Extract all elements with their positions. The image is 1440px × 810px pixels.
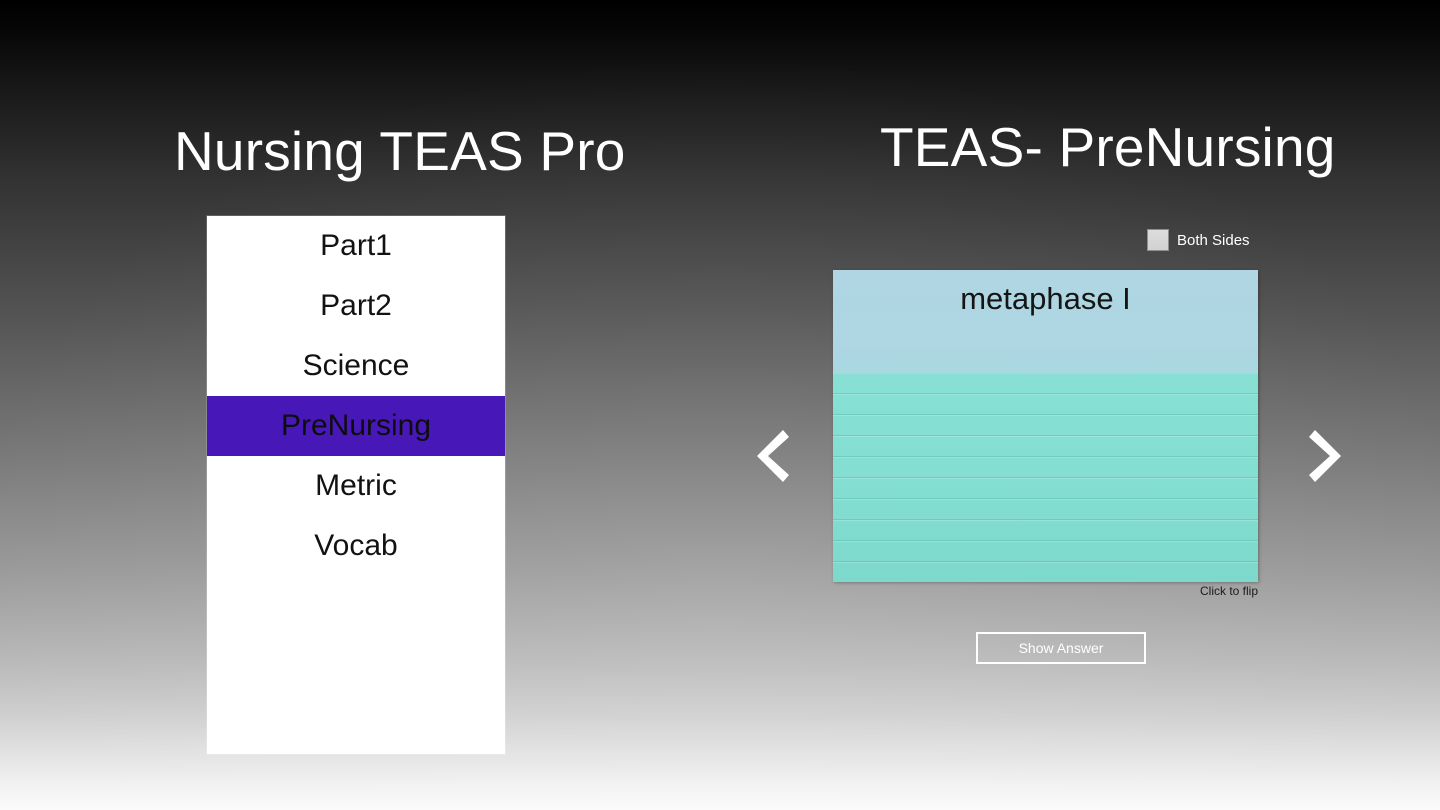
sidebar-item-label: Science bbox=[303, 349, 410, 382]
sidebar-item-part2[interactable]: Part2 bbox=[207, 276, 505, 336]
flashcard-term: metaphase I bbox=[833, 281, 1258, 317]
chevron-right-icon[interactable] bbox=[1301, 424, 1347, 488]
both-sides-checkbox[interactable] bbox=[1147, 229, 1169, 251]
app-title: Nursing TEAS Pro bbox=[174, 124, 626, 179]
sidebar-item-vocab[interactable]: Vocab bbox=[207, 516, 505, 576]
show-answer-button[interactable]: Show Answer bbox=[976, 632, 1146, 664]
category-list-panel: Part1 Part2 Science PreNursing Metric Vo… bbox=[207, 216, 505, 754]
sidebar-item-metric[interactable]: Metric bbox=[207, 456, 505, 516]
flashcard-front: metaphase I bbox=[833, 270, 1258, 374]
sidebar-item-label: Metric bbox=[315, 469, 397, 502]
sidebar-item-science[interactable]: Science bbox=[207, 336, 505, 396]
sidebar-item-label: Part1 bbox=[320, 229, 392, 262]
both-sides-label: Both Sides bbox=[1177, 232, 1250, 249]
flashcard[interactable]: metaphase I bbox=[833, 270, 1258, 582]
sidebar-item-prenursing[interactable]: PreNursing bbox=[207, 396, 505, 456]
sidebar-item-part1[interactable]: Part1 bbox=[207, 216, 505, 276]
chevron-left-icon[interactable] bbox=[751, 424, 797, 488]
deck-title: TEAS- PreNursing bbox=[880, 120, 1336, 175]
sidebar-item-label: Vocab bbox=[314, 529, 397, 562]
flashcard-back-ruled bbox=[833, 374, 1258, 582]
sidebar-item-label: Part2 bbox=[320, 289, 392, 322]
app-root: Nursing TEAS Pro TEAS- PreNursing Part1 … bbox=[0, 0, 1440, 810]
sidebar-item-label: PreNursing bbox=[281, 409, 431, 442]
both-sides-option[interactable]: Both Sides bbox=[1147, 229, 1250, 251]
click-to-flip-hint: Click to flip bbox=[1095, 584, 1258, 598]
